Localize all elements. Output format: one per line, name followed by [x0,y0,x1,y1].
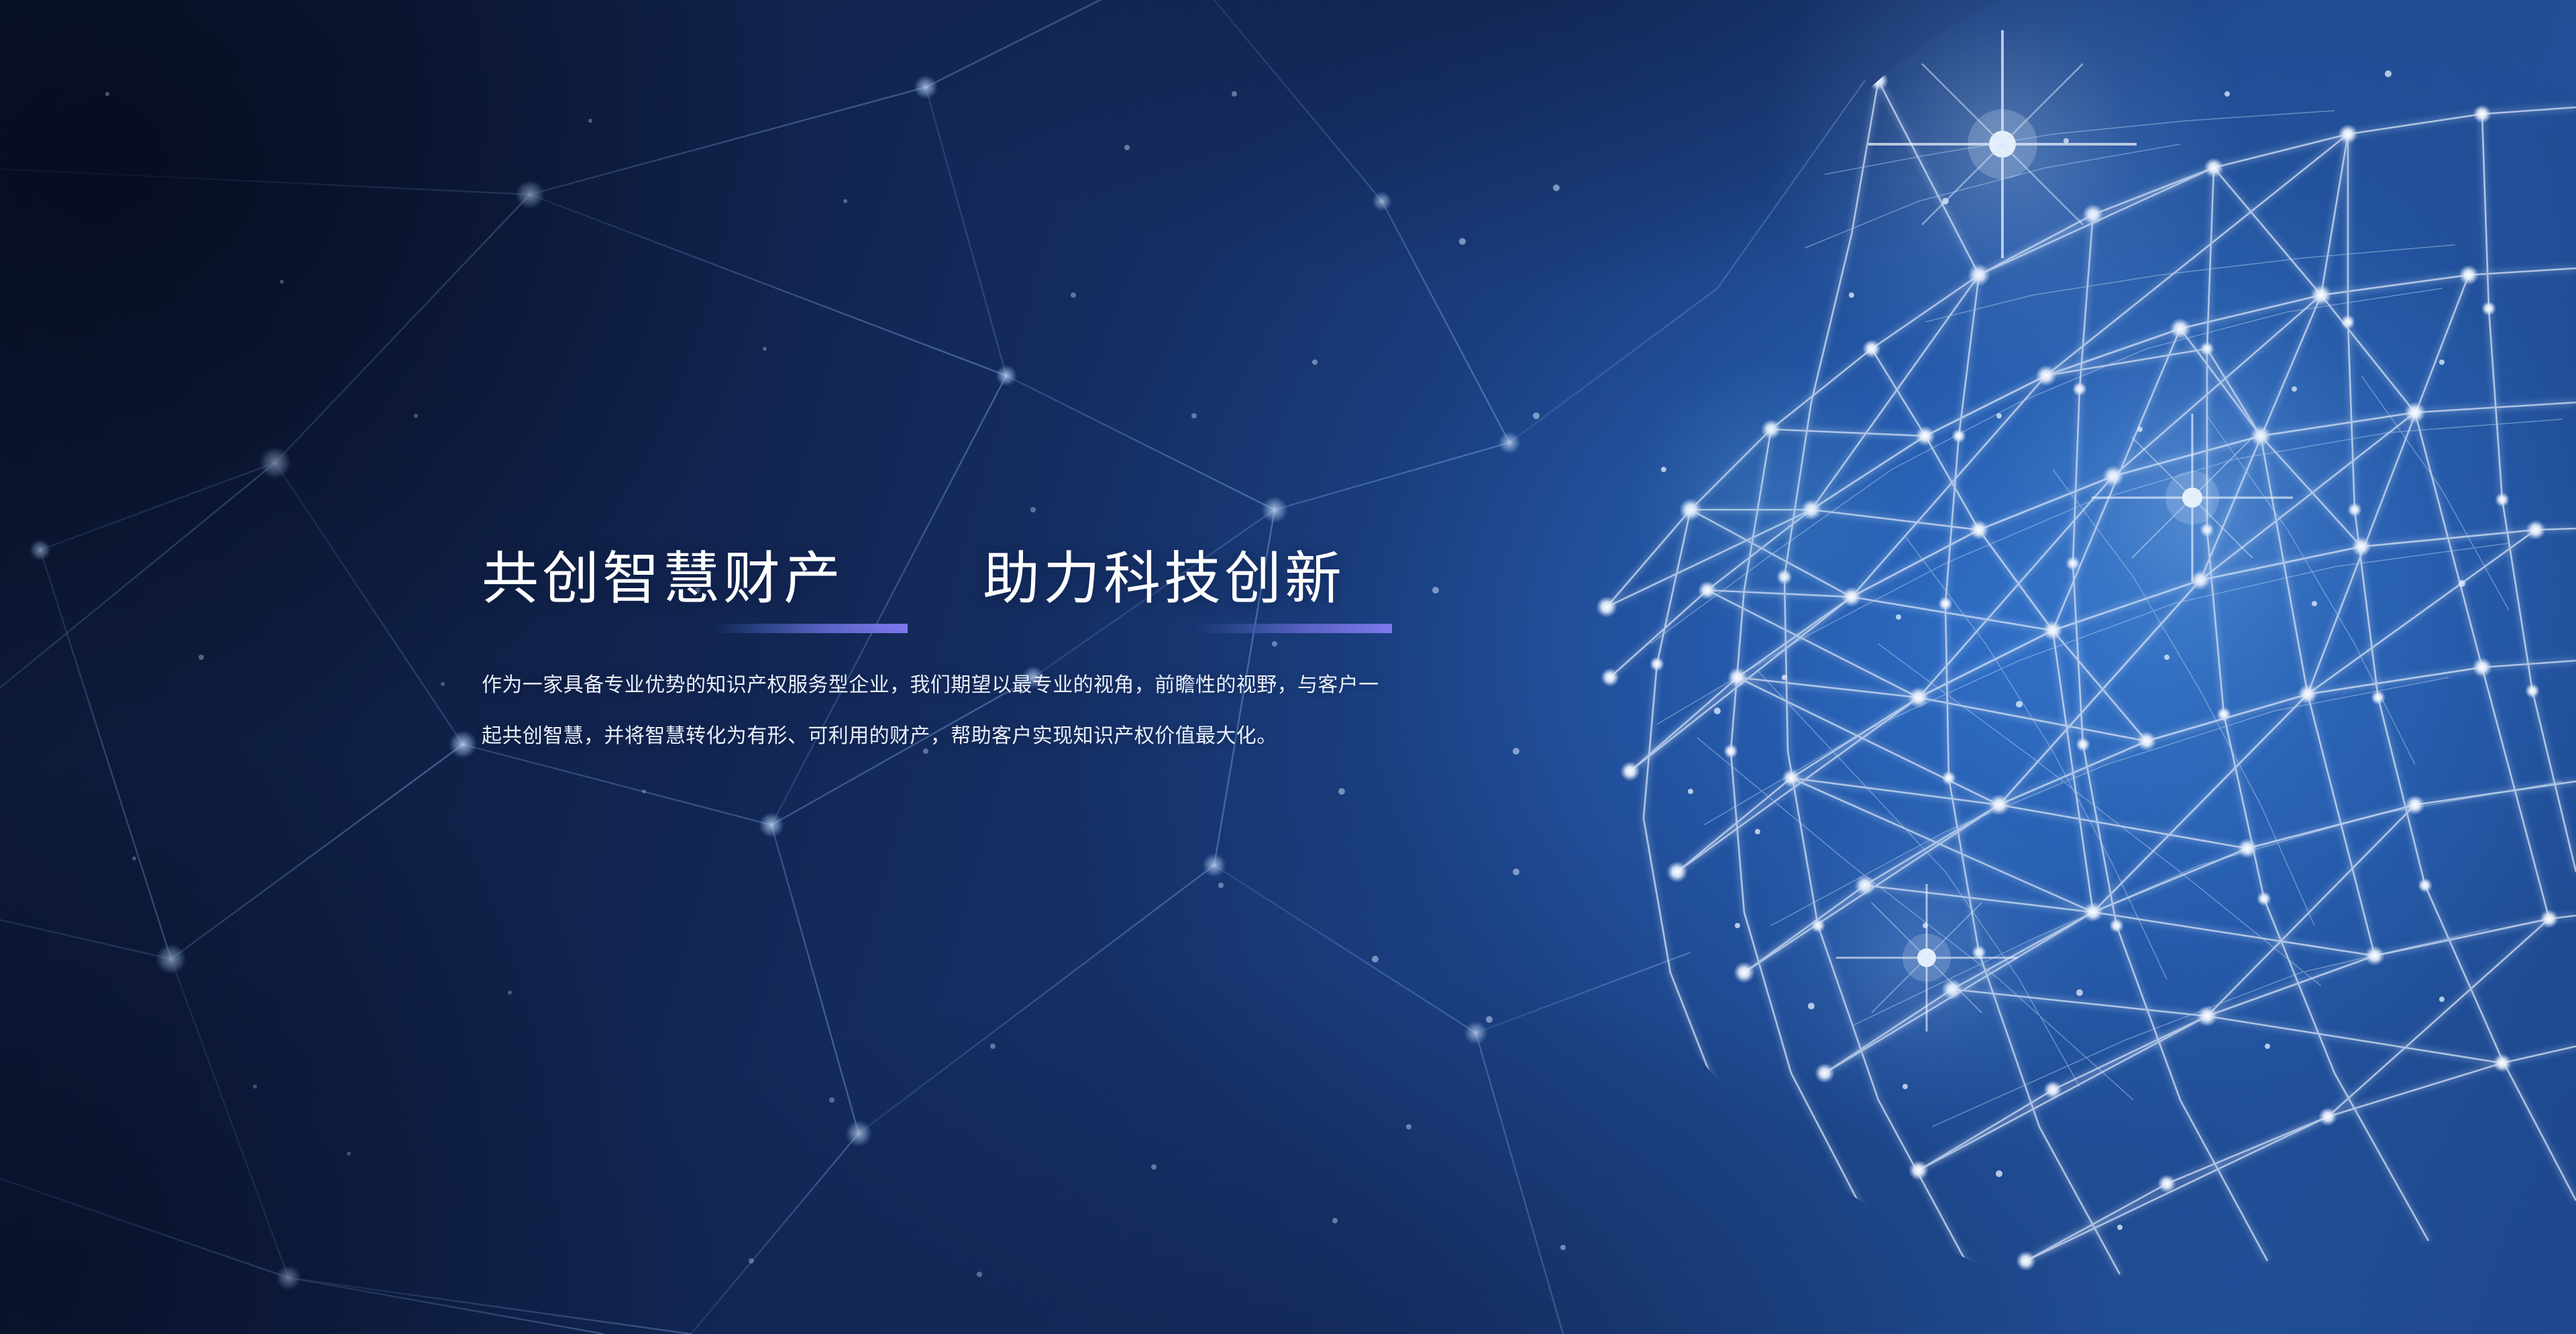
headline-phrase-2: 助力科技创新 [983,549,1392,633]
accent-underline-2 [1194,624,1392,633]
headline-phrase-2-text: 助力科技创新 [983,549,1392,610]
hero-copy: 共创智慧财产 助力科技创新 作为一家具备专业优势的知识产权服务型企业，我们期望以… [482,549,1421,782]
page-title: 共创智慧财产 助力科技创新 [482,549,1421,633]
hero-description: 作为一家具备专业优势的知识产权服务型企业，我们期望以最专业的视角，前瞻性的视野，… [482,660,1382,762]
headline-phrase-1: 共创智慧财产 [482,549,908,633]
accent-underline-1 [713,624,908,633]
headline-phrase-1-text: 共创智慧财产 [482,549,908,610]
hero-banner: 共创智慧财产 助力科技创新 作为一家具备专业优势的知识产权服务型企业，我们期望以… [0,0,2576,1334]
